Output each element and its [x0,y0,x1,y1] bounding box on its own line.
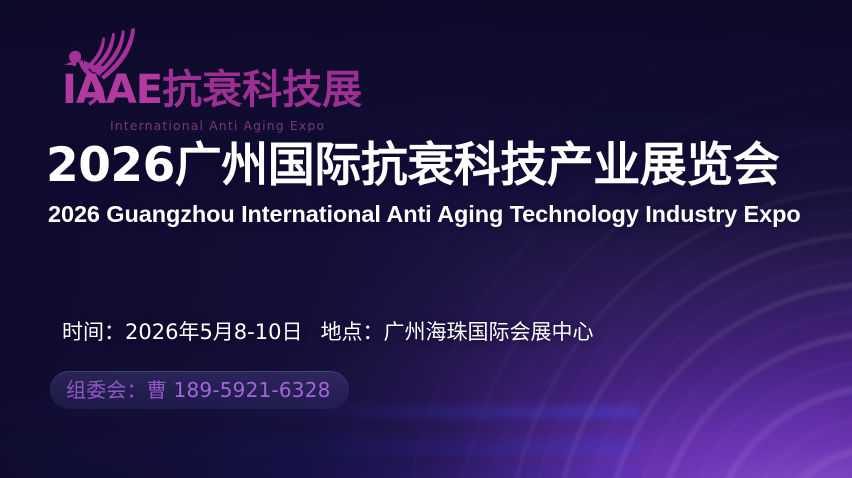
poster-content: IAAE抗衰科技展 International Anti Aging Expo … [0,0,852,478]
date-value: 2026年5月8-10日 [125,320,302,344]
organizer-contact-badge[interactable]: 组委会：曹 189-5921-6328 [50,371,349,409]
logo-wordmark-cjk: 抗衰科技展 [162,67,362,113]
organizer-label: 组委会：曹 [66,378,167,402]
page-title-en: 2026 Guangzhou International Anti Aging … [48,202,801,228]
organizer-contact-text: 组委会：曹 189-5921-6328 [66,380,331,400]
page-title-cn: 2026广州国际抗衰科技产业展览会 [46,141,779,191]
expo-poster: IAAE抗衰科技展 International Anti Aging Expo … [0,0,852,478]
logo-wordmark: IAAE抗衰科技展 [62,70,362,110]
date-label: 时间： [62,320,125,344]
logo-tagline: International Anti Aging Expo [110,118,325,133]
event-details: 时间：2026年5月8-10日地点：广州海珠国际会展中心 [62,321,593,344]
logo-block: IAAE抗衰科技展 International Anti Aging Expo [48,26,378,134]
venue-value: 广州海珠国际会展中心 [383,320,593,344]
logo-wordmark-latin: IAAE [62,67,162,113]
organizer-phone: 189-5921-6328 [167,378,331,402]
venue-label: 地点： [320,320,383,344]
